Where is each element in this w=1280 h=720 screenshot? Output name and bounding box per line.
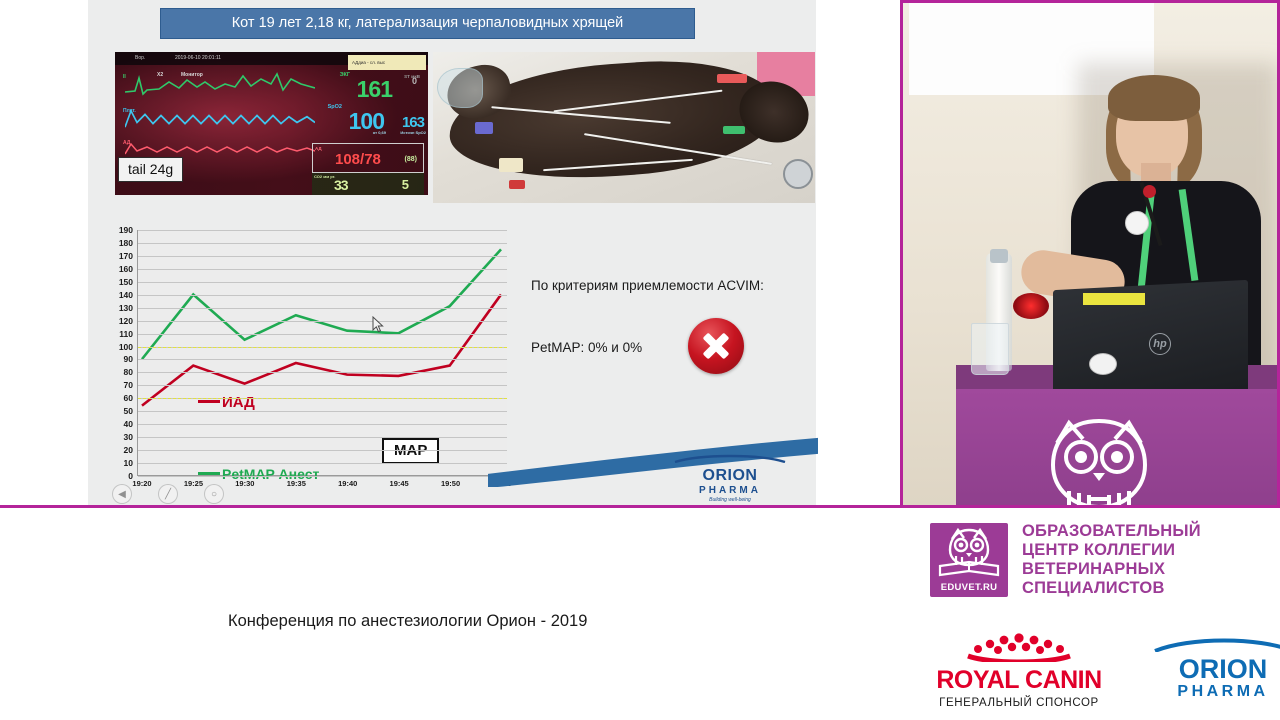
chart-line-petmap [142,249,501,359]
owl-book-icon [930,523,1008,583]
drinking-glass [971,323,1009,375]
chart-gridline [138,424,507,425]
sponsor-row: ROYAL CANIN ГЕНЕРАЛЬНЫЙ СПОНСОР ORION PH… [930,632,1280,709]
photo-strip: Вор. 2019-06-10 20:01:11 АДдиа - сл. выс… [115,52,815,203]
nibp-label: АД [315,146,322,151]
hp-logo-icon: hp [1149,333,1171,355]
chart-gridline [138,437,507,438]
y-axis-tick: 190 [119,225,133,235]
x-axis-tick: 19:50 [441,479,460,488]
chart-gridline [138,230,507,231]
pr-caption: от 0,69 [373,130,386,135]
monitor-bar-label: Вор. [135,52,145,65]
y-axis-tick: 160 [119,264,133,274]
orion-arc-icon [671,454,789,463]
y-axis-tick: 140 [119,290,133,300]
chart-series-lines [138,230,507,475]
chart-gridline [138,411,507,412]
error-cross-icon [688,318,744,374]
orion-arc-icon [1149,638,1280,652]
iv-port [723,126,745,134]
laptop-sticker-round [1089,353,1117,375]
pressure-gauge [783,159,813,189]
chart-gridline [138,269,507,270]
royal-canin-word: ROYAL CANIN [930,668,1108,693]
pen-icon[interactable]: ╱ [158,484,178,504]
threshold-line [138,398,507,399]
y-axis-tick: 130 [119,303,133,313]
patient-photo [433,52,815,203]
y-axis-tick: 90 [124,354,133,364]
eduvet-title: ОБРАЗОВАТЕЛЬНЫЙ ЦЕНТР КОЛЛЕГИИ ВЕТЕРИНАР… [1022,522,1201,599]
spo2-clip [475,122,493,134]
petmap-result: PetMAP: 0% и 0% [531,340,642,355]
spo2-label: SpO2 [328,104,342,110]
speaker-video-panel[interactable]: hp [900,0,1280,508]
crown-icon [944,632,1094,662]
hr-label: ЭКГ [340,72,350,78]
chart-gridline [138,243,507,244]
eduvet-line-1: ОБРАЗОВАТЕЛЬНЫЙ [1022,522,1201,541]
y-axis-tick: 40 [124,419,133,429]
x-axis-tick: 19:35 [287,479,306,488]
chart-gridline [138,372,507,373]
chart-gridline [138,334,507,335]
y-axis-tick: 80 [124,367,133,377]
chart-gridline [138,463,507,464]
y-axis-tick: 100 [119,342,133,352]
conference-caption: Конференция по анестезиологии Орион - 20… [228,612,587,631]
y-axis-tick: 10 [124,458,133,468]
speaker-hair-top [1108,75,1200,121]
x-axis-tick: 19:40 [338,479,357,488]
x-axis-tick: 19:45 [390,479,409,488]
magnifier-icon[interactable]: ○ [204,484,224,504]
st-value: 0 [412,76,416,86]
orion-pharma-slide-logo: ORION PHARMA Building well-being [670,450,790,503]
orion-pharma-logo: ORION PHARMA [1148,632,1280,700]
eduvet-line-3: ВЕТЕРИНАРНЫХ [1022,560,1201,579]
respiratory-rate-value: 5 [402,177,408,192]
speaker-badge [1125,211,1149,235]
eduvet-line-2: ЦЕНТР КОЛЛЕГИИ [1022,541,1201,560]
etco2-value: 33 [334,177,348,193]
nibp-value: 108/78 [335,151,381,168]
chart-line-iad [142,295,501,406]
slide-title: Кот 19 лет 2,18 кг, латерализация черпал… [160,8,695,39]
eduvet-owl-mark: EDUVET.RU [930,523,1008,597]
iv-catheter [717,74,747,83]
arrow-cursor [372,316,384,333]
y-axis-tick: 180 [119,238,133,248]
orion-slide-sub: PHARMA [670,484,790,497]
y-axis-tick: 70 [124,380,133,390]
legend-iad-label: ИАД [222,394,255,411]
orion-slide-word: ORION [670,468,790,484]
ecg-clip [499,158,523,172]
pulse-source-caption: Источн SpO2 [400,130,426,135]
orion-slide-tagline: Building well-being [670,497,790,503]
chart-gridline [138,385,507,386]
owl-icon [1043,413,1155,508]
royal-canin-logo: ROYAL CANIN ГЕНЕРАЛЬНЫЙ СПОНСОР [930,632,1108,709]
chart-gridline [138,256,507,257]
ecg-waveform [125,70,315,100]
y-axis-tick: 60 [124,393,133,403]
y-axis-tick: 150 [119,277,133,287]
slide-canvas: Кот 19 лет 2,18 кг, латерализация черпал… [88,0,816,505]
chart-gridline [138,282,507,283]
blood-pressure-chart: ИАД PetMAP Анест MAP 1901801701601501401… [100,222,520,492]
y-axis-tick: 20 [124,445,133,455]
laptop-sticker-yellow [1083,293,1145,305]
y-axis-tick: 170 [119,251,133,261]
nibp-mean-value: (88) [405,156,417,163]
royal-canin-sponsor-label: ГЕНЕРАЛЬНЫЙ СПОНСОР [930,697,1108,709]
eduvet-line-4: СПЕЦИАЛИСТОВ [1022,579,1201,598]
screen-root: Кот 19 лет 2,18 кг, латерализация черпал… [0,0,1280,720]
y-axis-tick: 50 [124,406,133,416]
legend-iad: ИАД [198,394,255,411]
y-axis-tick: 30 [124,432,133,442]
bottle-cap [990,249,1008,263]
etco2-label: СО2 мм рт. [314,174,335,179]
ecg-clip-red [509,180,525,189]
monitor-alarm-note: АДдиа - сл. выс [348,55,426,70]
chart-gridline [138,476,507,477]
x-axis-tick: 19:30 [235,479,254,488]
eduvet-url: EDUVET.RU [930,582,1008,593]
y-axis-tick: 120 [119,316,133,326]
pulse-rate-value: 163 [402,114,424,131]
chart-gridline [138,295,507,296]
microphone-head [1143,185,1156,198]
back-icon[interactable]: ◀ [112,484,132,504]
legend-iad-swatch [198,400,220,403]
tail-catheter-label: tail 24g [118,157,183,182]
chart-gridline [138,321,507,322]
video-stage[interactable]: Кот 19 лет 2,18 кг, латерализация черпал… [0,0,1280,508]
acvim-heading: По критериям приемлемости ACVIM: [531,278,811,293]
monitor-timestamp: 2019-06-10 20:01:11 [175,52,221,65]
presentation-slide: Кот 19 лет 2,18 кг, латерализация черпал… [0,0,900,508]
eduvet-logo: EDUVET.RU ОБРАЗОВАТЕЛЬНЫЙ ЦЕНТР КОЛЛЕГИИ… [930,522,1201,599]
threshold-line [138,347,507,348]
anesthesia-mask [437,68,483,108]
orion-sub: PHARMA [1148,683,1280,701]
orion-word: ORION [1148,657,1280,683]
chart-gridline [138,359,507,360]
chart-gridline [138,308,507,309]
y-axis-tick: 110 [119,329,133,339]
pleth-waveform [125,104,315,134]
hr-value: 161 [357,76,392,103]
computer-mouse [1013,293,1049,319]
chart-gridline [138,450,507,451]
chart-plot-area: ИАД PetMAP Анест MAP 1901801701601501401… [137,230,507,476]
legend-petmap-swatch [198,472,220,475]
nibp-panel: АД 108/78 (88) [312,143,424,173]
player-controls[interactable]: ◀ ╱ ○ [112,482,224,506]
etco2-panel: СО2 мм рт. 33 5 [312,173,424,195]
